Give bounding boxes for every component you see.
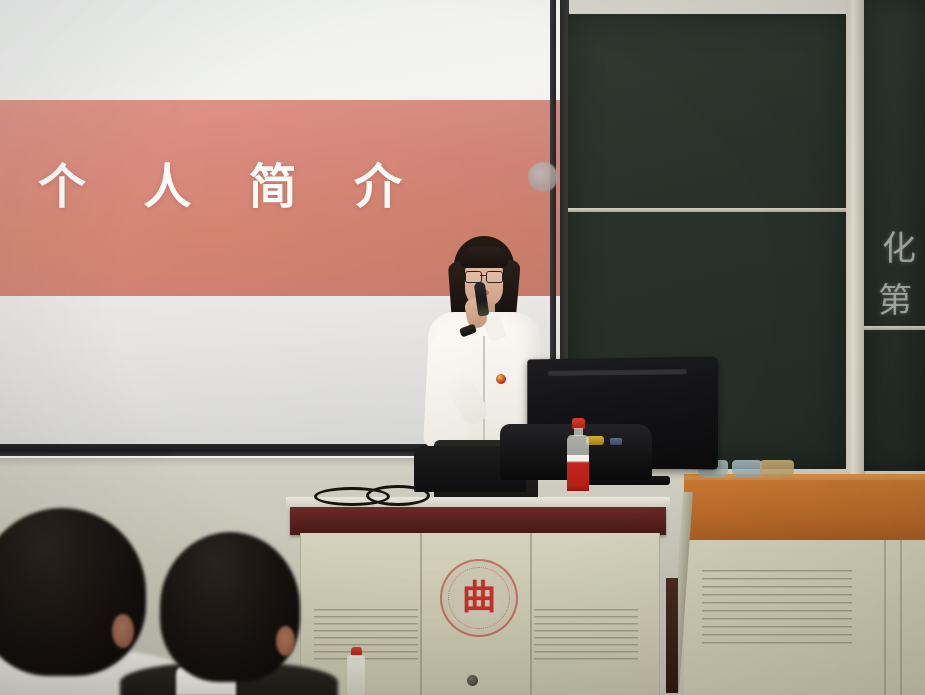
podium-panel-seam: [420, 533, 422, 695]
audience-member-ear: [276, 626, 295, 656]
eyeglasses-icon: [465, 271, 503, 281]
chalk-text-line-1: 化: [882, 228, 917, 271]
side-desk-vent: [702, 570, 852, 650]
small-bottle: [347, 647, 365, 695]
side-desk-seam: [884, 540, 886, 695]
bowl-item: [760, 460, 794, 478]
podium-vent-right: [534, 609, 638, 665]
school-emblem-icon: 曲: [440, 559, 518, 637]
podium-wood-rim: [290, 507, 666, 535]
bag-accent-blue: [610, 438, 622, 445]
water-bottle: [565, 418, 591, 494]
emblem-glyph: 曲: [462, 581, 496, 615]
cup-item: [732, 460, 762, 478]
podium-panel-seam: [530, 533, 532, 695]
chalk-rail: [568, 208, 846, 212]
slide-circle-decoration-icon: [528, 162, 558, 192]
glasses-bridge: [480, 275, 486, 276]
side-desk-wood-top: [684, 478, 925, 540]
audience-member-ear: [112, 614, 134, 648]
bottle-body: [567, 435, 589, 494]
bottle-label: [567, 455, 589, 491]
chalk-text-line-2: 第: [878, 280, 913, 323]
small-bottle-body: [347, 655, 365, 695]
side-desk-post: [666, 578, 678, 693]
podium-vent-left: [314, 609, 418, 665]
badge-pin-icon: [496, 374, 506, 384]
slide-title-text: 个 人 简 介: [38, 164, 424, 212]
classroom-scene: 化 第 个 人 简 介: [0, 0, 925, 695]
blackboard-divider-frame: [846, 0, 865, 474]
shirt-placket: [483, 336, 485, 444]
side-desk-seam: [900, 540, 902, 695]
presenter-fringe: [460, 246, 508, 268]
lecture-podium: 曲: [292, 497, 664, 695]
side-desk: [676, 478, 925, 695]
podium-lock-knob: [467, 675, 478, 686]
chalk-rail: [864, 326, 925, 330]
lens-right: [486, 271, 503, 283]
audience-member-head: [160, 532, 300, 682]
monitor-vent-strip: [548, 369, 687, 376]
